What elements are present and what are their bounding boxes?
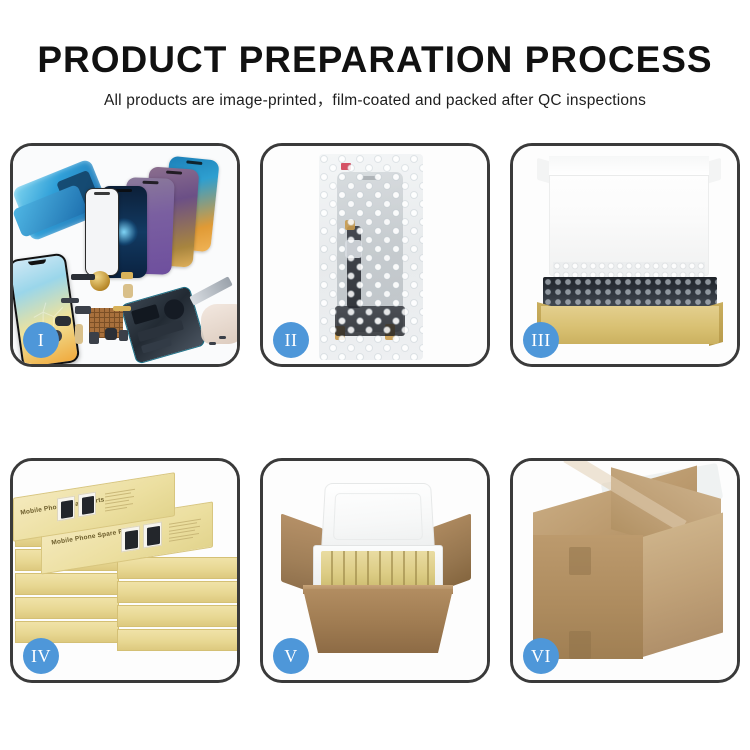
small-part-h bbox=[119, 330, 128, 341]
product-preparation-infographic: PRODUCT PREPARATION PROCESS All products… bbox=[0, 0, 750, 750]
page-subtitle: All products are image-printed，film-coat… bbox=[0, 90, 750, 112]
retail-box-stack-r2 bbox=[117, 557, 237, 579]
step-panel-2: II bbox=[260, 143, 490, 367]
kraft-box-front-icon bbox=[541, 306, 719, 344]
header: PRODUCT PREPARATION PROCESS All products… bbox=[0, 38, 750, 112]
bubble-wrap-bag-icon bbox=[319, 154, 423, 360]
carton-body-icon bbox=[303, 589, 453, 653]
retail-box-image-2b bbox=[143, 521, 162, 548]
step-panel-1: I bbox=[10, 143, 240, 367]
screw-a bbox=[209, 342, 216, 345]
small-part-j bbox=[61, 298, 79, 303]
step-panel-4: Mobile Phone Spare Parts Mobile Phone Sp… bbox=[10, 458, 240, 683]
retail-box-stack-l4 bbox=[15, 597, 119, 619]
foam-box-lid-icon bbox=[321, 483, 435, 554]
carton-right-face bbox=[641, 512, 723, 657]
phone-glass-panel-icon bbox=[85, 188, 119, 276]
step-badge-4: IV bbox=[23, 638, 59, 674]
box-lid-fold bbox=[549, 156, 709, 176]
screw-b bbox=[219, 336, 226, 339]
retail-box-stack-l3 bbox=[15, 573, 119, 595]
step-badge-3: III bbox=[523, 322, 559, 358]
flex-cable-a bbox=[123, 284, 133, 298]
bubble-texture bbox=[319, 154, 423, 360]
small-part-b bbox=[121, 272, 133, 279]
step-badge-6: VI bbox=[523, 638, 559, 674]
step-badge-2: II bbox=[273, 322, 309, 358]
bubble-texture bbox=[543, 277, 717, 309]
small-part-c bbox=[75, 306, 91, 314]
retail-box-image-1a bbox=[57, 496, 75, 522]
retail-box-stack-r3 bbox=[117, 581, 237, 603]
step-panel-6: VI bbox=[510, 458, 740, 683]
step-badge-1: I bbox=[23, 322, 59, 358]
carton-tab-upper bbox=[569, 547, 591, 575]
retail-box-image-2a bbox=[121, 525, 140, 552]
retail-box-stack-r4 bbox=[117, 605, 237, 627]
small-part-i bbox=[113, 306, 131, 311]
small-part-f bbox=[89, 332, 99, 344]
packed-items-icon bbox=[543, 277, 717, 309]
packed-retail-boxes-icon bbox=[321, 551, 435, 587]
step-panel-5: V bbox=[260, 458, 490, 683]
small-part-d bbox=[55, 316, 71, 326]
page-title: PRODUCT PREPARATION PROCESS bbox=[0, 38, 750, 82]
small-part-a bbox=[71, 274, 95, 280]
retail-box-image-1b bbox=[78, 492, 96, 518]
carton-tab-lower bbox=[569, 631, 591, 659]
step-panel-3: III bbox=[510, 143, 740, 367]
step-badge-5: V bbox=[273, 638, 309, 674]
small-part-g bbox=[105, 328, 117, 340]
retail-box-stack-r5 bbox=[117, 629, 237, 651]
flex-cable-b bbox=[75, 324, 83, 344]
process-steps-grid: I II bbox=[10, 143, 740, 683]
